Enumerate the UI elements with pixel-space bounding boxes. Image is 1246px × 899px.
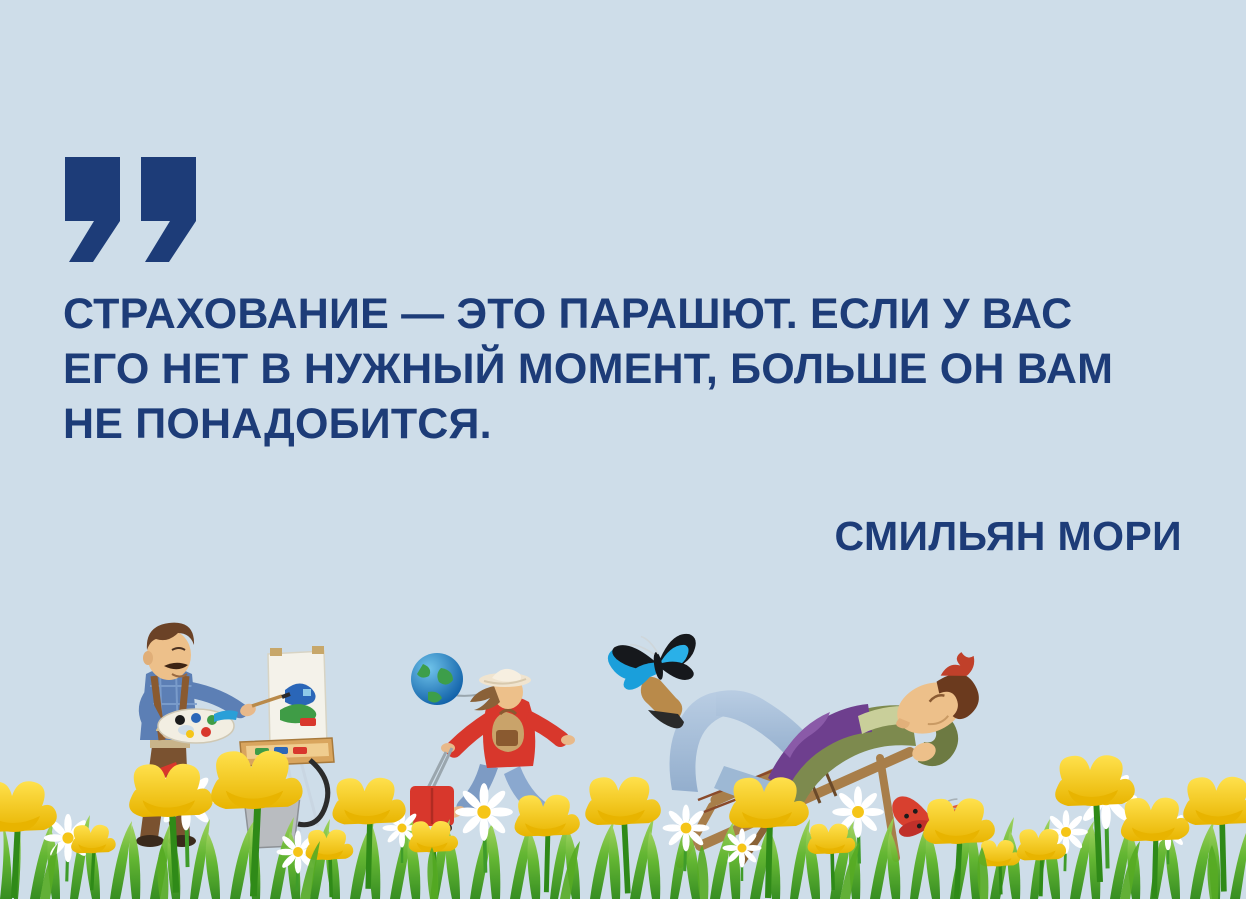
quote-line-1: СТРАХОВАНИЕ — ЭТО ПАРАШЮТ. ЕСЛИ У ВАС [63,287,1153,342]
painter-with-easel-figure [136,623,334,848]
grass-field [0,815,1246,899]
quote-line-2: ЕГО НЕТ В НУЖНЫЙ МОМЕНТ, БОЛЬШЕ ОН ВАМ [63,342,1153,397]
quote-poster: СТРАХОВАНИЕ — ЭТО ПАРАШЮТ. ЕСЛИ У ВАС ЕГ… [0,0,1246,899]
quote-author: СМИЛЬЯН МОРИ [835,512,1183,560]
buttercup-flowers [0,751,1246,899]
daisy-flowers [44,767,1188,891]
red-butterfly-icon [888,790,973,845]
blue-butterfly-icon [605,627,702,692]
traveler-with-globe-balloon-figure [410,653,575,832]
grass-front-overlay [40,841,1218,899]
quote-line-3: НЕ ПОНАДОБИТСЯ. [63,397,1153,452]
quotation-mark-icon [63,157,198,262]
man-in-deck-chair-figure [641,648,995,864]
quote-text: СТРАХОВАНИЕ — ЭТО ПАРАШЮТ. ЕСЛИ У ВАС ЕГ… [63,287,1153,452]
